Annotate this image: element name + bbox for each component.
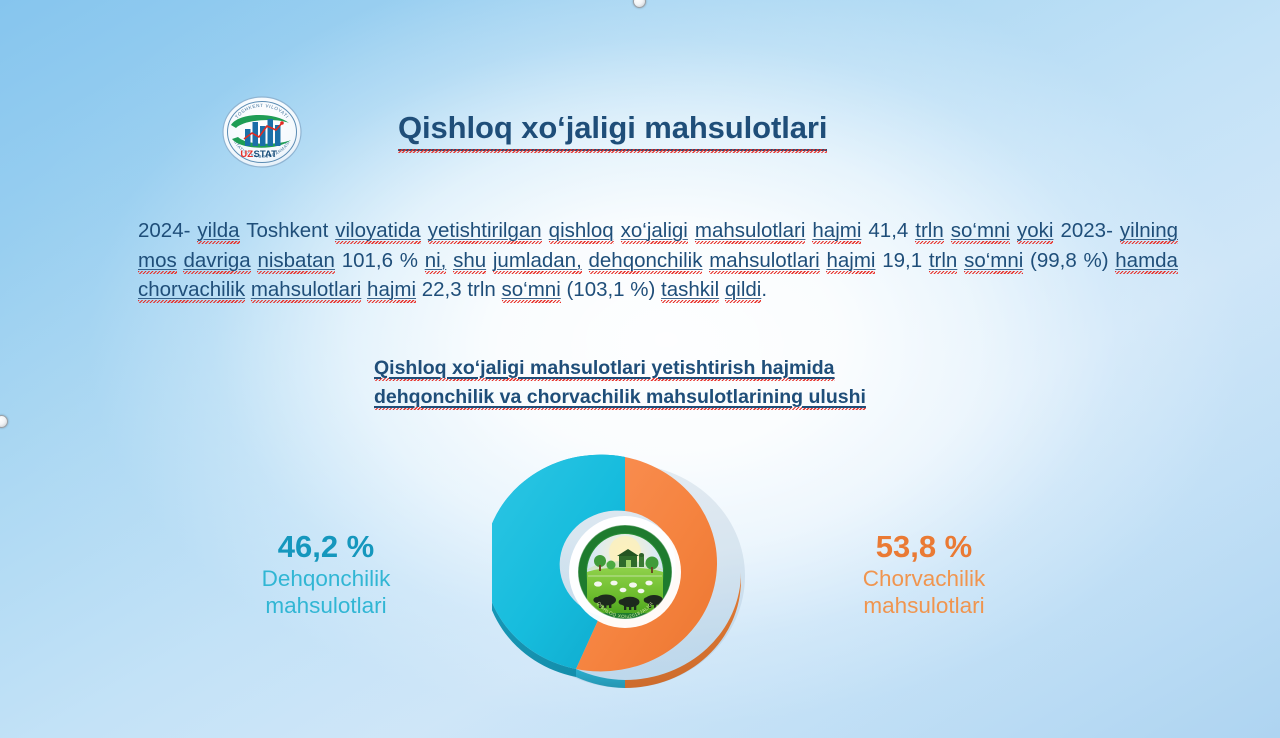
paragraph-word-55: tashkil bbox=[661, 278, 719, 303]
paragraph-word-53: so‘mni bbox=[502, 278, 561, 303]
paragraph-word-23: mos bbox=[138, 249, 177, 274]
paragraph-word-3: viloyatida bbox=[335, 219, 420, 244]
paragraph-word-47: chorvachilik bbox=[138, 278, 245, 303]
paragraph-word-57: qildi bbox=[725, 278, 761, 303]
donut-chart: QISHLOQ XO\u2018JALIGI bbox=[492, 448, 758, 692]
paragraph-word-7: qishloq bbox=[549, 219, 614, 244]
chart-heading-line-1: Qishloq xo‘jaligi mahsulotlari yetishtir… bbox=[374, 357, 835, 381]
donut-chart-svg: QISHLOQ XO\u2018JALIGI bbox=[492, 448, 758, 692]
paragraph-word-27: nisbatan bbox=[257, 249, 335, 274]
selection-handle-left[interactable] bbox=[0, 415, 8, 428]
paragraph-word-13: hajmi bbox=[812, 219, 861, 244]
legend-left-caption-line-1: Dehqonchilik bbox=[206, 565, 446, 592]
paragraph-word-17: so‘mni bbox=[951, 219, 1010, 244]
paragraph-word-51: hajmi bbox=[367, 278, 416, 303]
legend-right-percent: 53,8 % bbox=[800, 528, 1048, 565]
paragraph-word-39: hajmi bbox=[826, 249, 875, 274]
selection-handle-top[interactable] bbox=[633, 0, 646, 8]
paragraph-word-31: shu bbox=[453, 249, 486, 274]
legend-left-percent: 46,2 % bbox=[206, 528, 446, 565]
uzstat-logo: TOSHKENT VILOYATI STATISTIKA BOSHQARMASI… bbox=[219, 95, 305, 169]
paragraph-word-21: yilning bbox=[1120, 219, 1178, 244]
paragraph-word-33: jumladan, bbox=[493, 249, 582, 274]
paragraph-word-29: ni, bbox=[425, 249, 447, 274]
paragraph-word-1: yilda bbox=[197, 219, 239, 244]
legend-left-dehqonchilik: 46,2 % Dehqonchilik mahsulotlari bbox=[206, 528, 446, 619]
paragraph-word-15: trln bbox=[915, 219, 943, 244]
svg-text:UZ: UZ bbox=[240, 149, 253, 160]
paragraph-word-9: xo‘jaligi bbox=[621, 219, 688, 244]
paragraph-word-25: davriga bbox=[183, 249, 250, 274]
paragraph-word-5: yetishtirilgan bbox=[428, 219, 542, 244]
paragraph-word-19: yoki bbox=[1017, 219, 1053, 244]
page-title: Qishloq xo‘jaligi mahsulotlari bbox=[398, 110, 827, 151]
paragraph-word-37: mahsulotlari bbox=[709, 249, 820, 274]
legend-right-chorvachilik: 53,8 % Chorvachilik mahsulotlari bbox=[800, 528, 1048, 619]
uzstat-logo-icon: TOSHKENT VILOYATI STATISTIKA BOSHQARMASI… bbox=[219, 95, 305, 169]
legend-left-caption-line-2: mahsulotlari bbox=[206, 592, 446, 619]
paragraph-word-45: hamda bbox=[1115, 249, 1178, 274]
chart-heading: Qishloq xo‘jaligi mahsulotlari yetishtir… bbox=[374, 354, 914, 412]
summary-paragraph: 2024- yilda Toshkent viloyatida yetishti… bbox=[138, 216, 1178, 305]
chart-heading-line-2: dehqonchilik va chorvachilik mahsulotlar… bbox=[374, 386, 866, 410]
paragraph-word-35: dehqonchilik bbox=[589, 249, 703, 274]
legend-right-caption-line-1: Chorvachilik bbox=[800, 565, 1048, 592]
paragraph-word-41: trln bbox=[929, 249, 957, 274]
paragraph-word-11: mahsulotlari bbox=[695, 219, 806, 244]
paragraph-word-43: so‘mni bbox=[964, 249, 1023, 274]
svg-text:STAT: STAT bbox=[254, 149, 278, 160]
farm-pasture-emblem: QISHLOQ XO\u2018JALIGI bbox=[587, 534, 663, 619]
paragraph-word-49: mahsulotlari bbox=[251, 278, 362, 303]
slide-canvas: TOSHKENT VILOYATI STATISTIKA BOSHQARMASI… bbox=[0, 0, 1280, 738]
legend-right-caption-line-2: mahsulotlari bbox=[800, 592, 1048, 619]
